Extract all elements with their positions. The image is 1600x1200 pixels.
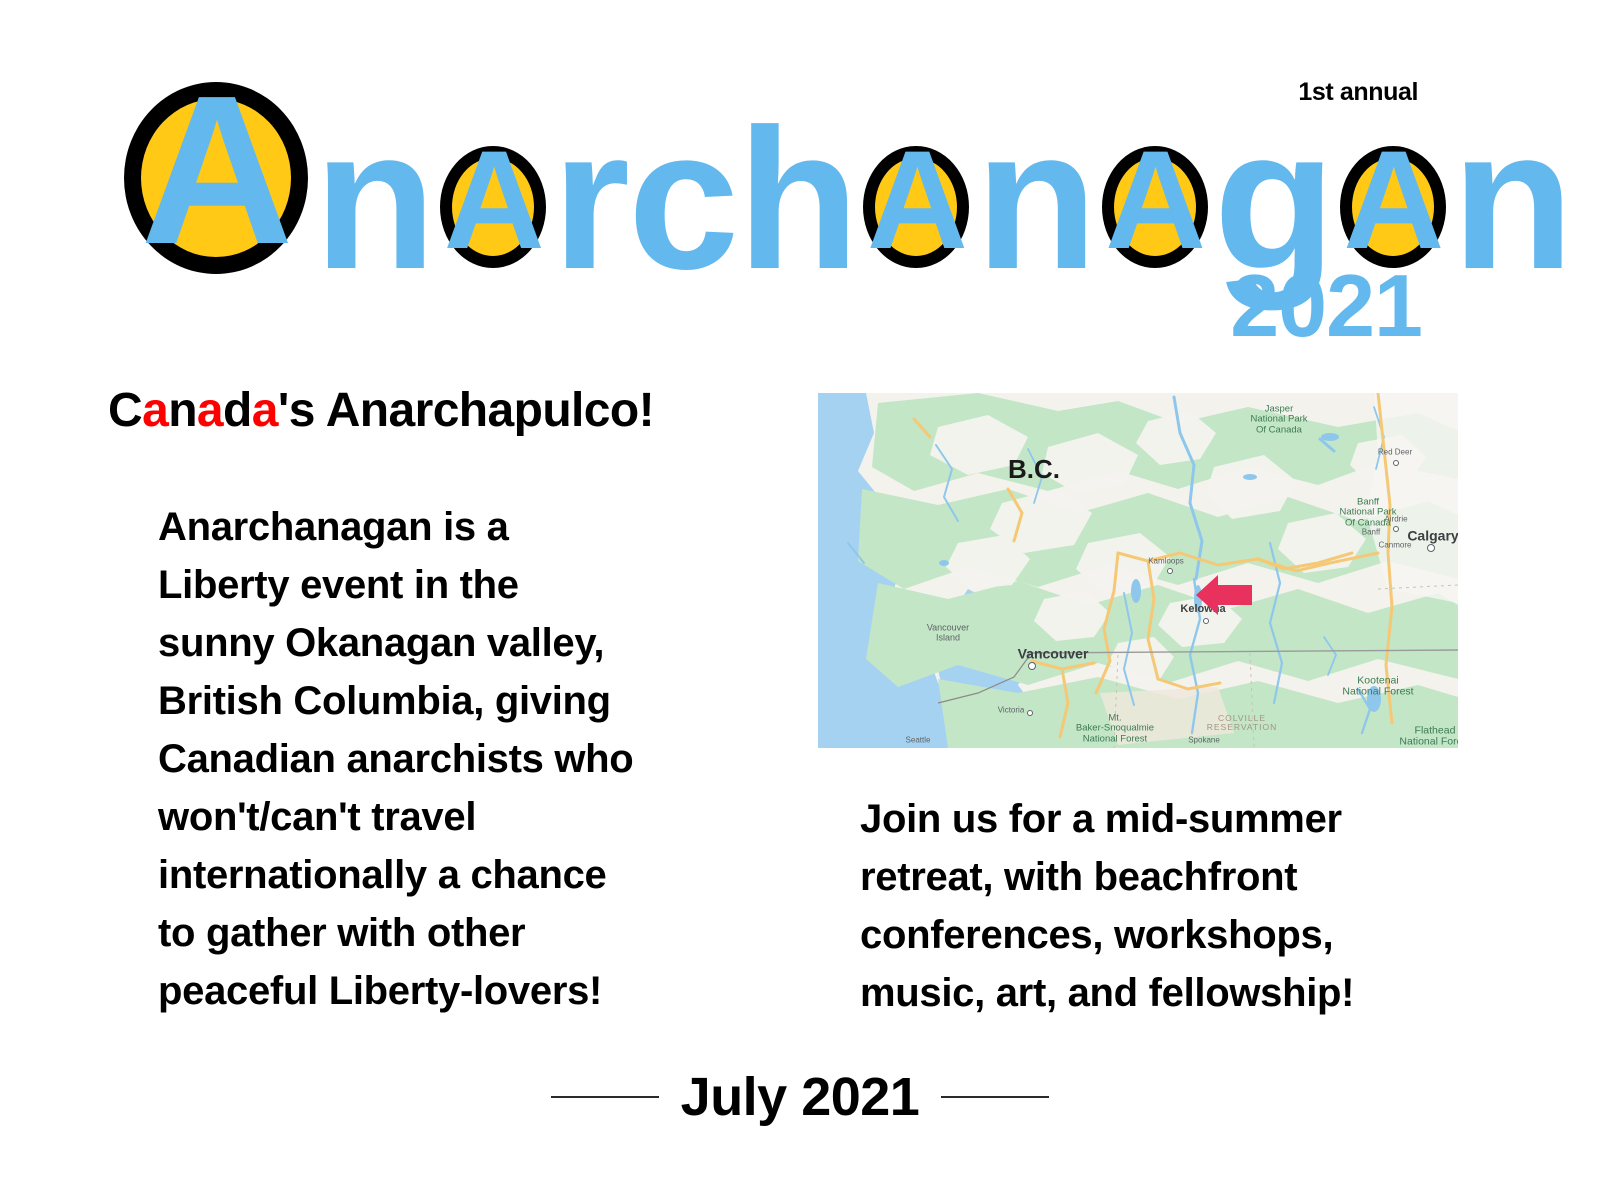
footer-rule-left [551, 1096, 659, 1098]
wordmark-letter-n: n [975, 100, 1095, 300]
headline-part: d [223, 384, 252, 437]
circled-a-icon: A [1096, 68, 1214, 268]
anarchy-a-glyph: A [118, 64, 314, 276]
headline-part: n [168, 384, 197, 437]
headline-part: a [142, 384, 168, 437]
wordmark-letter-n: n [1452, 100, 1572, 300]
map-dot-kamloops [1167, 568, 1173, 574]
footer-date: July 2021 [681, 1066, 920, 1128]
map-dot-red-deer [1393, 460, 1399, 466]
body-line: Liberty event in the [158, 556, 698, 614]
footer-date-banner: July 2021 [0, 1066, 1600, 1128]
body-line: won't/can't travel [158, 788, 698, 846]
body-line: conferences, workshops, [860, 906, 1420, 964]
body-line: British Columbia, giving [158, 672, 698, 730]
left-body-text: Anarchanagan is a Liberty event in the s… [158, 498, 698, 1020]
anarchy-a-glyph: A [1096, 130, 1214, 270]
headline-part: C [108, 384, 142, 437]
body-line: music, art, and fellowship! [860, 964, 1420, 1022]
wordmark-letters-rch: rch [552, 100, 857, 300]
logo-wordmark: A n A rch A n A g A n [118, 68, 1458, 278]
circled-a-icon: A [857, 68, 975, 268]
map-dot-kelowna [1203, 618, 1209, 624]
body-line: peaceful Liberty-lovers! [158, 962, 698, 1020]
headline-part: 's Anarchapulco! [278, 384, 654, 437]
right-body-text: Join us for a mid-summer retreat, with b… [860, 790, 1420, 1022]
headline-part: a [252, 384, 278, 437]
anarchy-a-glyph: A [1334, 130, 1452, 270]
body-line: Canadian anarchists who [158, 730, 698, 788]
circled-a-icon: A [118, 68, 314, 268]
page-title: Canada's Anarchapulco! [108, 383, 654, 438]
anarchy-a-glyph: A [434, 130, 552, 270]
map-dot-vancouver [1028, 662, 1036, 670]
wordmark-letter-n: n [314, 100, 434, 300]
map-dot-calgary [1427, 544, 1435, 552]
map-graphic [818, 393, 1458, 748]
map-location-arrow-icon [1196, 572, 1252, 618]
headline-part: a [197, 384, 223, 437]
footer-rule-right [941, 1096, 1049, 1098]
anarchy-a-glyph: A [857, 130, 975, 270]
edition-label: 1st annual [1298, 78, 1418, 107]
body-line: Anarchanagan is a [158, 498, 698, 556]
map-dot-airdrie [1393, 526, 1399, 532]
body-line: sunny Okanagan valley, [158, 614, 698, 672]
body-line: to gather with other [158, 904, 698, 962]
poster-canvas: A n A rch A n A g A n 1st annual 2021 Ca… [0, 0, 1600, 1200]
location-map: B.C. JasperNational ParkOf Canada BanffN… [818, 393, 1458, 748]
body-line: Join us for a mid-summer [860, 790, 1420, 848]
body-line: internationally a chance [158, 846, 698, 904]
map-dot-victoria [1027, 710, 1033, 716]
body-line: retreat, with beachfront [860, 848, 1420, 906]
circled-a-icon: A [434, 68, 552, 268]
